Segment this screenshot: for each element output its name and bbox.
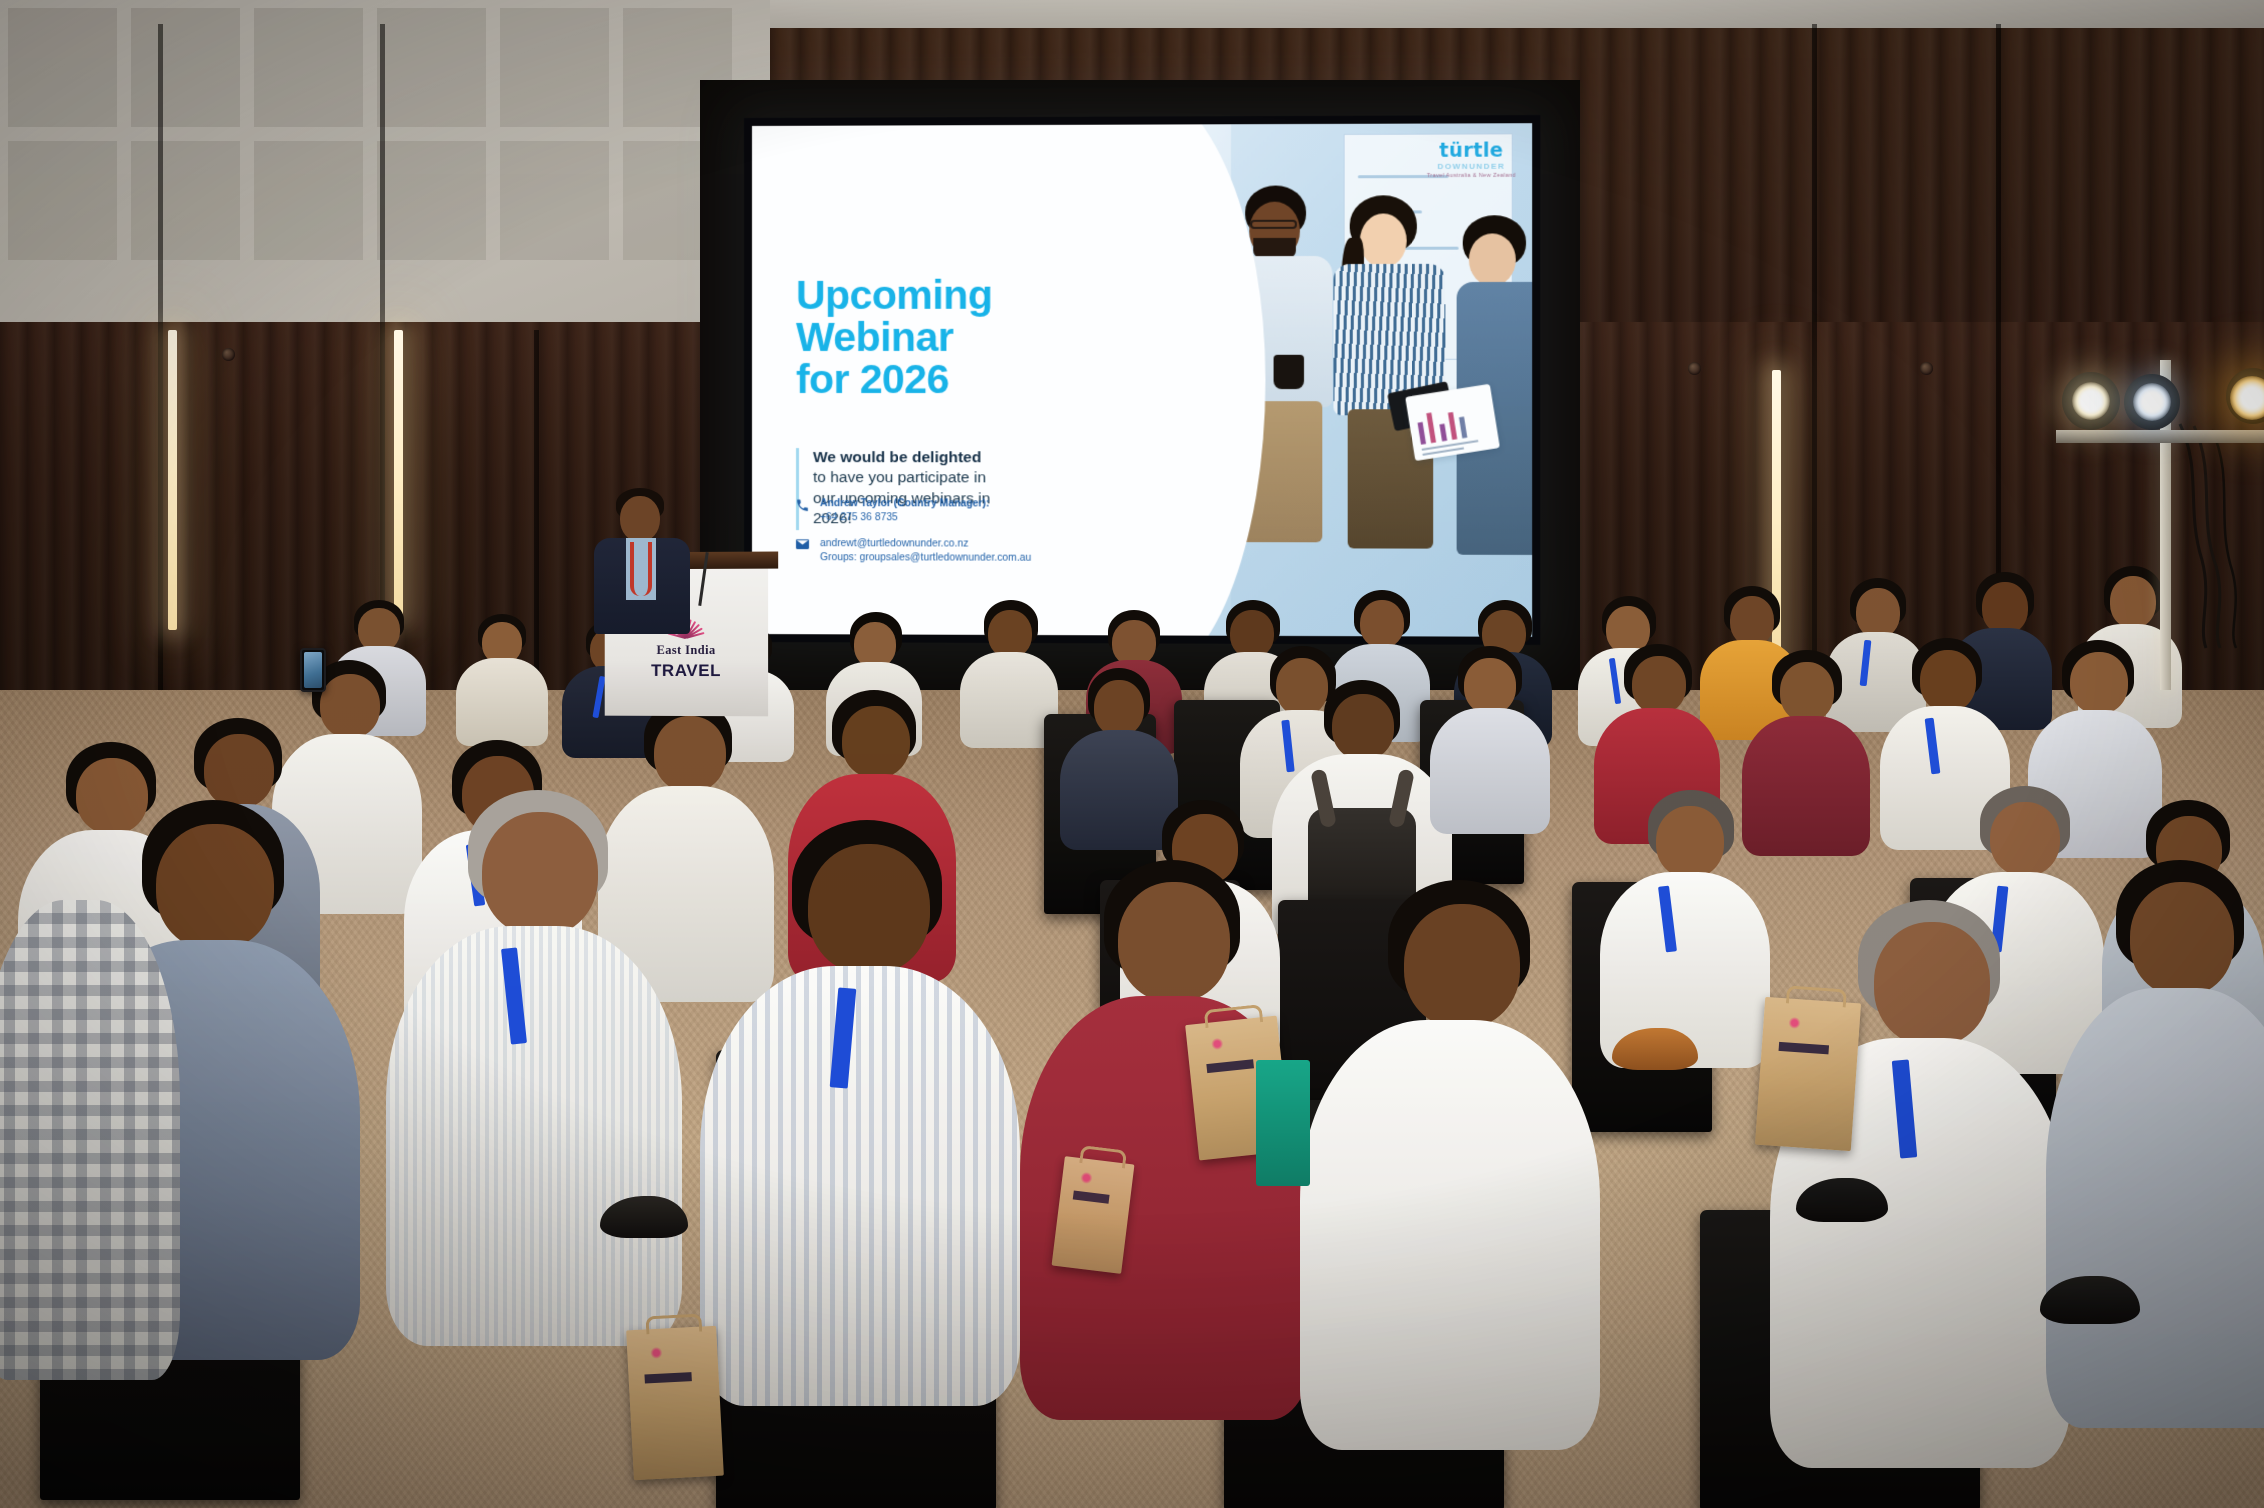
callout-strong-line: We would be delighted: [813, 448, 1047, 469]
par-light-cool-blue: [2133, 383, 2171, 421]
par-light-warm-white: [2072, 382, 2110, 420]
contact-phone-text: Andrew Taylor (Country Manager): +64 275…: [820, 497, 989, 526]
contact-email-text: andrewt@turtledownunder.co.nz Groups: gr…: [820, 537, 1031, 566]
contact-email: andrewt@turtledownunder.co.nz: [820, 538, 968, 549]
podium-org-line-2: TRAVEL: [605, 661, 768, 681]
podium-org-line-1: East India: [605, 643, 768, 658]
turtle-sub-line-1: DOWNUNDER: [1427, 162, 1516, 171]
audience-member: [1300, 880, 1600, 1440]
projection-screen: türtle DOWNUNDER Travel Australia & New …: [744, 115, 1540, 645]
led-light-strip: [394, 330, 403, 622]
audience-member: [0, 900, 180, 1380]
truss-horizontal-bar: [2056, 430, 2264, 443]
phone-icon: [796, 497, 811, 512]
contact-groups-email: Groups: groupsales@turtledownunder.com.a…: [820, 552, 1031, 564]
audience-member: [1430, 646, 1550, 832]
photo-person-woman-striped: [1334, 195, 1466, 549]
upper-wall-band: [770, 0, 2264, 28]
presenter-lanyard: [630, 542, 652, 596]
conference-hall-photo: türtle DOWNUNDER Travel Australia & New …: [0, 0, 2264, 1508]
contact-phone-number: +64 275 36 8735: [820, 513, 898, 524]
presenter-head: [620, 496, 660, 542]
led-light-strip: [168, 330, 177, 630]
jute-tote-bag: [1755, 997, 1861, 1151]
jute-tote-bag: [626, 1326, 724, 1481]
audience-member: [386, 790, 682, 1350]
truss-cables: [2172, 420, 2262, 650]
audience-member: [2046, 860, 2264, 1420]
contact-name-line: Andrew Taylor (Country Manager):: [820, 498, 989, 509]
contact-phone-row: Andrew Taylor (Country Manager): +64 275…: [796, 497, 1031, 526]
slide-curve-divider: [1031, 123, 1265, 637]
presentation-slide: türtle DOWNUNDER Travel Australia & New …: [752, 123, 1532, 637]
photo-chart-sheet: [1405, 384, 1500, 461]
smartphone-camera[interactable]: [300, 648, 326, 692]
audience-member: [700, 820, 1020, 1400]
panel-grid: [0, 8, 740, 260]
jute-tote-bag: [1052, 1156, 1135, 1274]
turtle-wordmark: türtle: [1427, 139, 1516, 162]
acoustic-panel-wall: [0, 0, 770, 322]
audience-member: [1770, 900, 2070, 1460]
turtle-sub-line-2: Travel Australia & New Zealand: [1427, 173, 1516, 179]
teal-gift-bag: [1256, 1060, 1310, 1186]
contact-email-row: andrewt@turtledownunder.co.nz Groups: gr…: [796, 537, 1031, 566]
slide-contact-block: Andrew Taylor (Country Manager): +64 275…: [796, 497, 1031, 577]
callout-body-line-1: to have you participate in: [813, 469, 1047, 490]
turtle-brand-logo: türtle DOWNUNDER Travel Australia & New …: [1427, 139, 1516, 179]
audience-member: [456, 614, 548, 740]
envelope-icon: [796, 537, 811, 549]
slide-title: Upcoming Webinar for 2026: [796, 274, 992, 401]
audience-member: [1600, 790, 1770, 1060]
